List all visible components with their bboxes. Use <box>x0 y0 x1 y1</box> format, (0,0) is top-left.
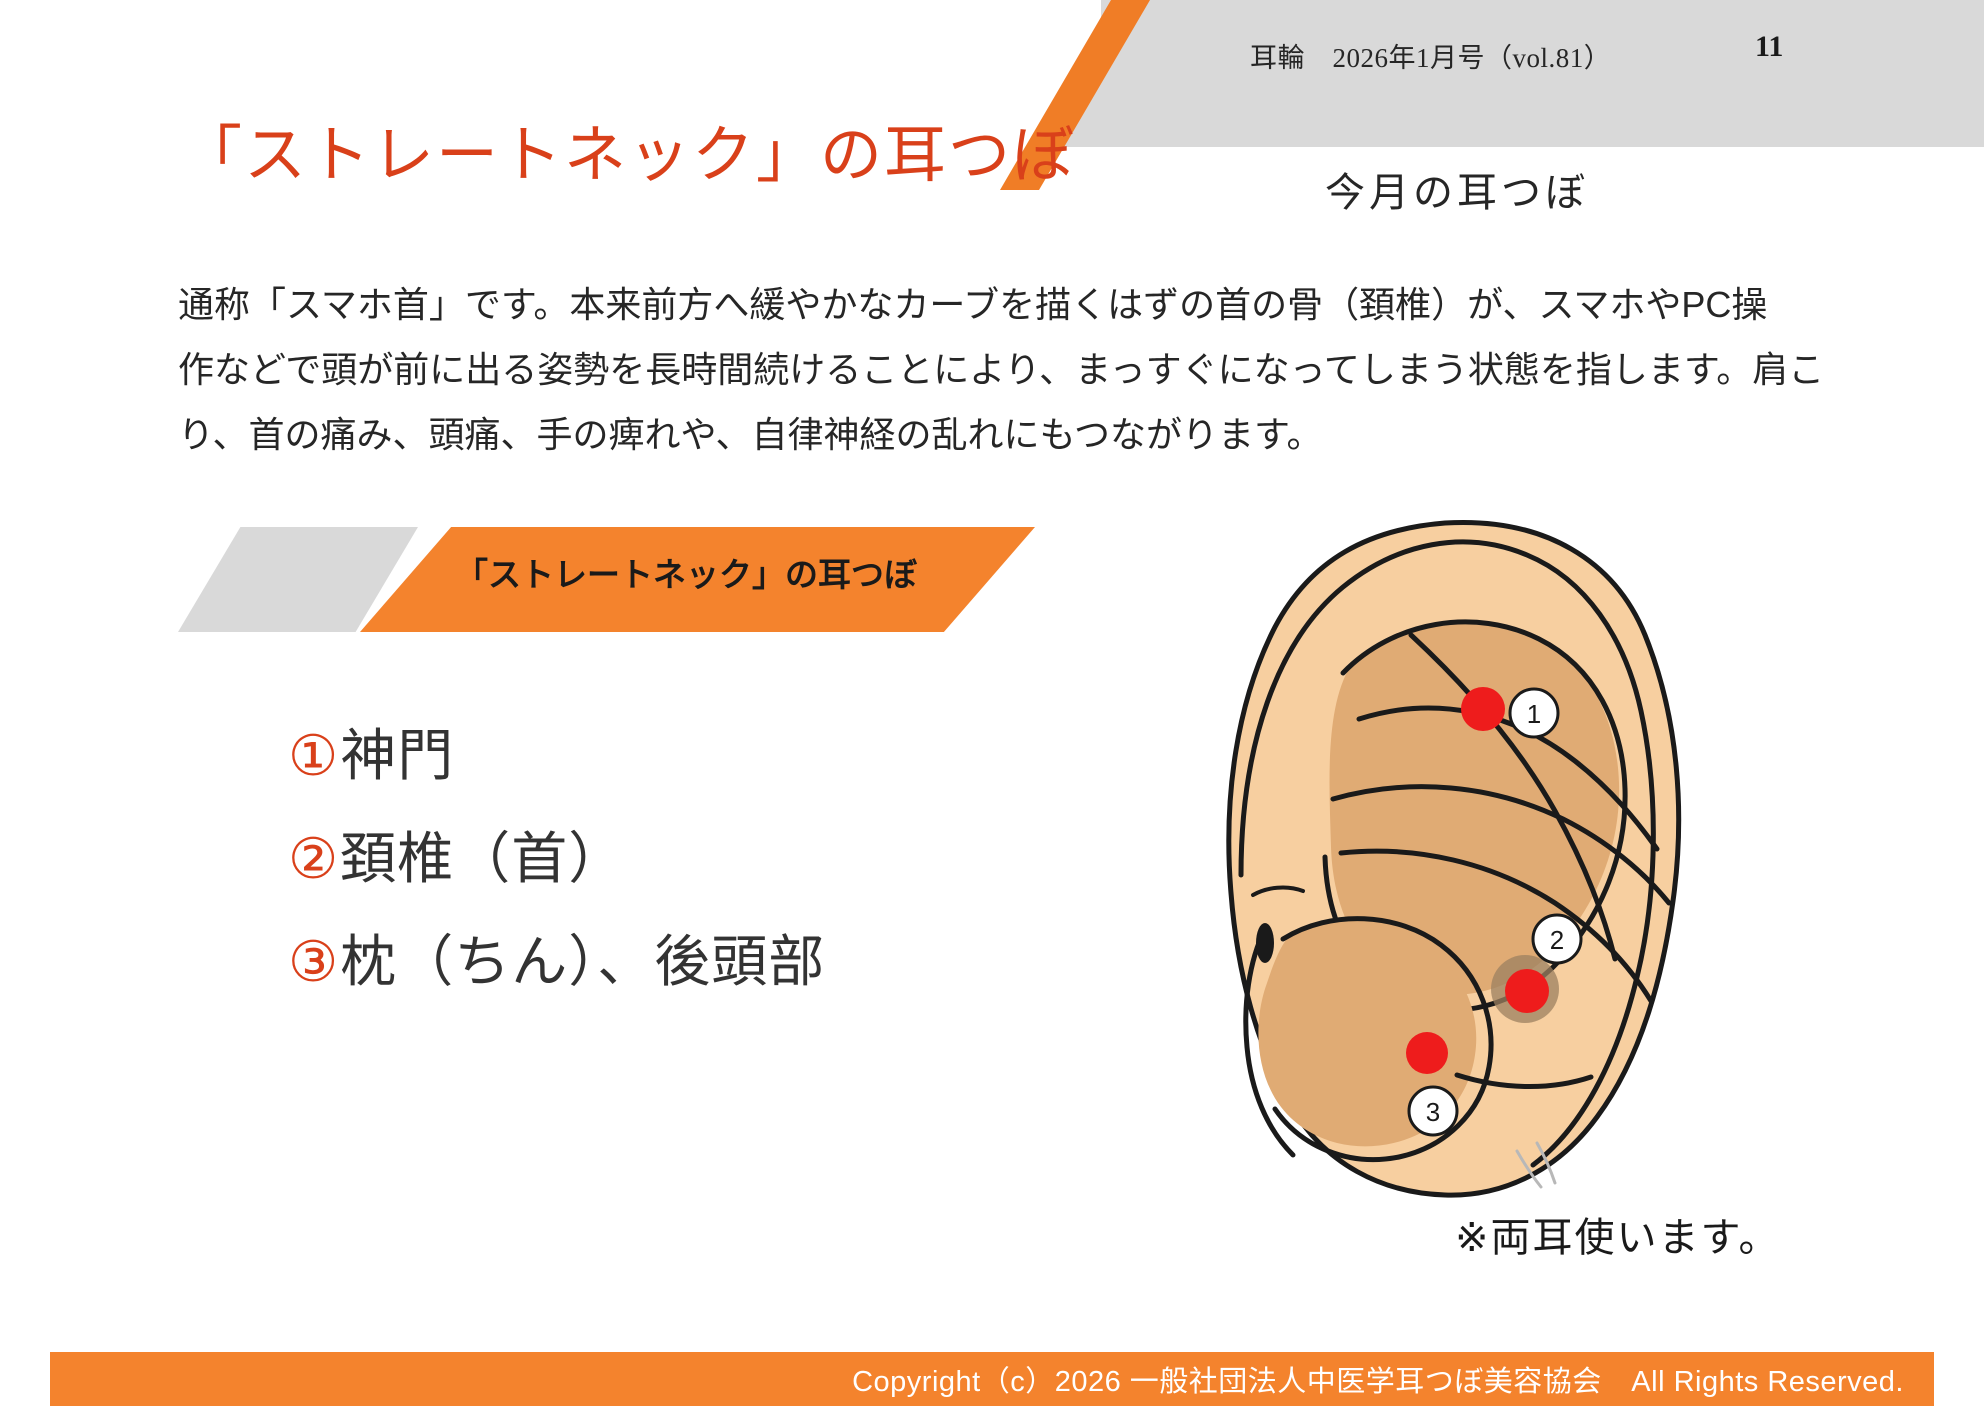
header-subtitle: 今月の耳つぼ <box>1325 160 1589 218</box>
acupoint-number-3: ③ <box>288 935 338 991</box>
paragraph-line: 通称「スマホ首」です。本来前方へ緩やかなカーブを描くはずの首の骨（頚椎）が、スマ… <box>178 272 1798 337</box>
acupoint-number-2: ② <box>288 832 338 888</box>
paragraph-line: 作などで頭が前に出る姿勢を長時間続けることにより、まっすぐになってしまう状態を指… <box>178 337 1798 402</box>
callout-1-label: 1 <box>1527 699 1541 729</box>
acupoint-list: ① 神門 ② 頚椎（首） ③ 枕（ちん）、後頭部 <box>288 728 825 1037</box>
page-title: 「ストレートネック」の耳つぼ <box>180 104 1076 194</box>
callout-2-label: 2 <box>1550 925 1564 955</box>
banner-label: 「ストレートネック」の耳つぼ <box>455 548 917 596</box>
issue-text: 耳輪 2026年1月号（vol.81） <box>1250 36 1611 75</box>
slide-page: 耳輪 2026年1月号（vol.81） 11 今月の耳つぼ 「ストレートネック」… <box>0 0 1984 1406</box>
callout-3: 3 <box>1409 1087 1457 1135</box>
callout-3-label: 3 <box>1426 1097 1440 1127</box>
ear-diagram: 1 2 3 <box>1145 515 1785 1205</box>
callout-1: 1 <box>1510 689 1558 737</box>
ear-illustration-svg: 1 2 3 <box>1145 515 1785 1205</box>
acupoint-marker-2 <box>1505 969 1549 1013</box>
acupoint-label-3: 枕（ちん）、後頭部 <box>340 934 825 990</box>
acupoint-label-1: 神門 <box>340 728 454 784</box>
callout-2: 2 <box>1533 915 1581 963</box>
issue-line: 耳輪 2026年1月号（vol.81） <box>1250 33 1810 77</box>
footer-copyright: Copyright（c）2026 一般社団法人中医学耳つぼ美容協会 All Ri… <box>50 1352 1934 1406</box>
acupoint-marker-3 <box>1406 1032 1448 1074</box>
acupoint-number-1: ① <box>288 729 338 785</box>
acupoint-marker-1 <box>1461 687 1505 731</box>
ear-canal-mark <box>1256 923 1274 963</box>
paragraph-line: り、首の痛み、頭痛、手の痺れや、自律神経の乱れにもつながります。 <box>178 402 1798 467</box>
diagram-note: ※両耳使います。 <box>1455 1205 1781 1263</box>
list-item: ① 神門 <box>288 728 825 831</box>
list-item: ③ 枕（ちん）、後頭部 <box>288 934 825 1037</box>
acupoint-label-2: 頚椎（首） <box>340 831 625 887</box>
page-number: 11 <box>1755 30 1783 64</box>
list-item: ② 頚椎（首） <box>288 831 825 934</box>
body-paragraph: 通称「スマホ首」です。本来前方へ緩やかなカーブを描くはずの首の骨（頚椎）が、スマ… <box>178 272 1798 467</box>
